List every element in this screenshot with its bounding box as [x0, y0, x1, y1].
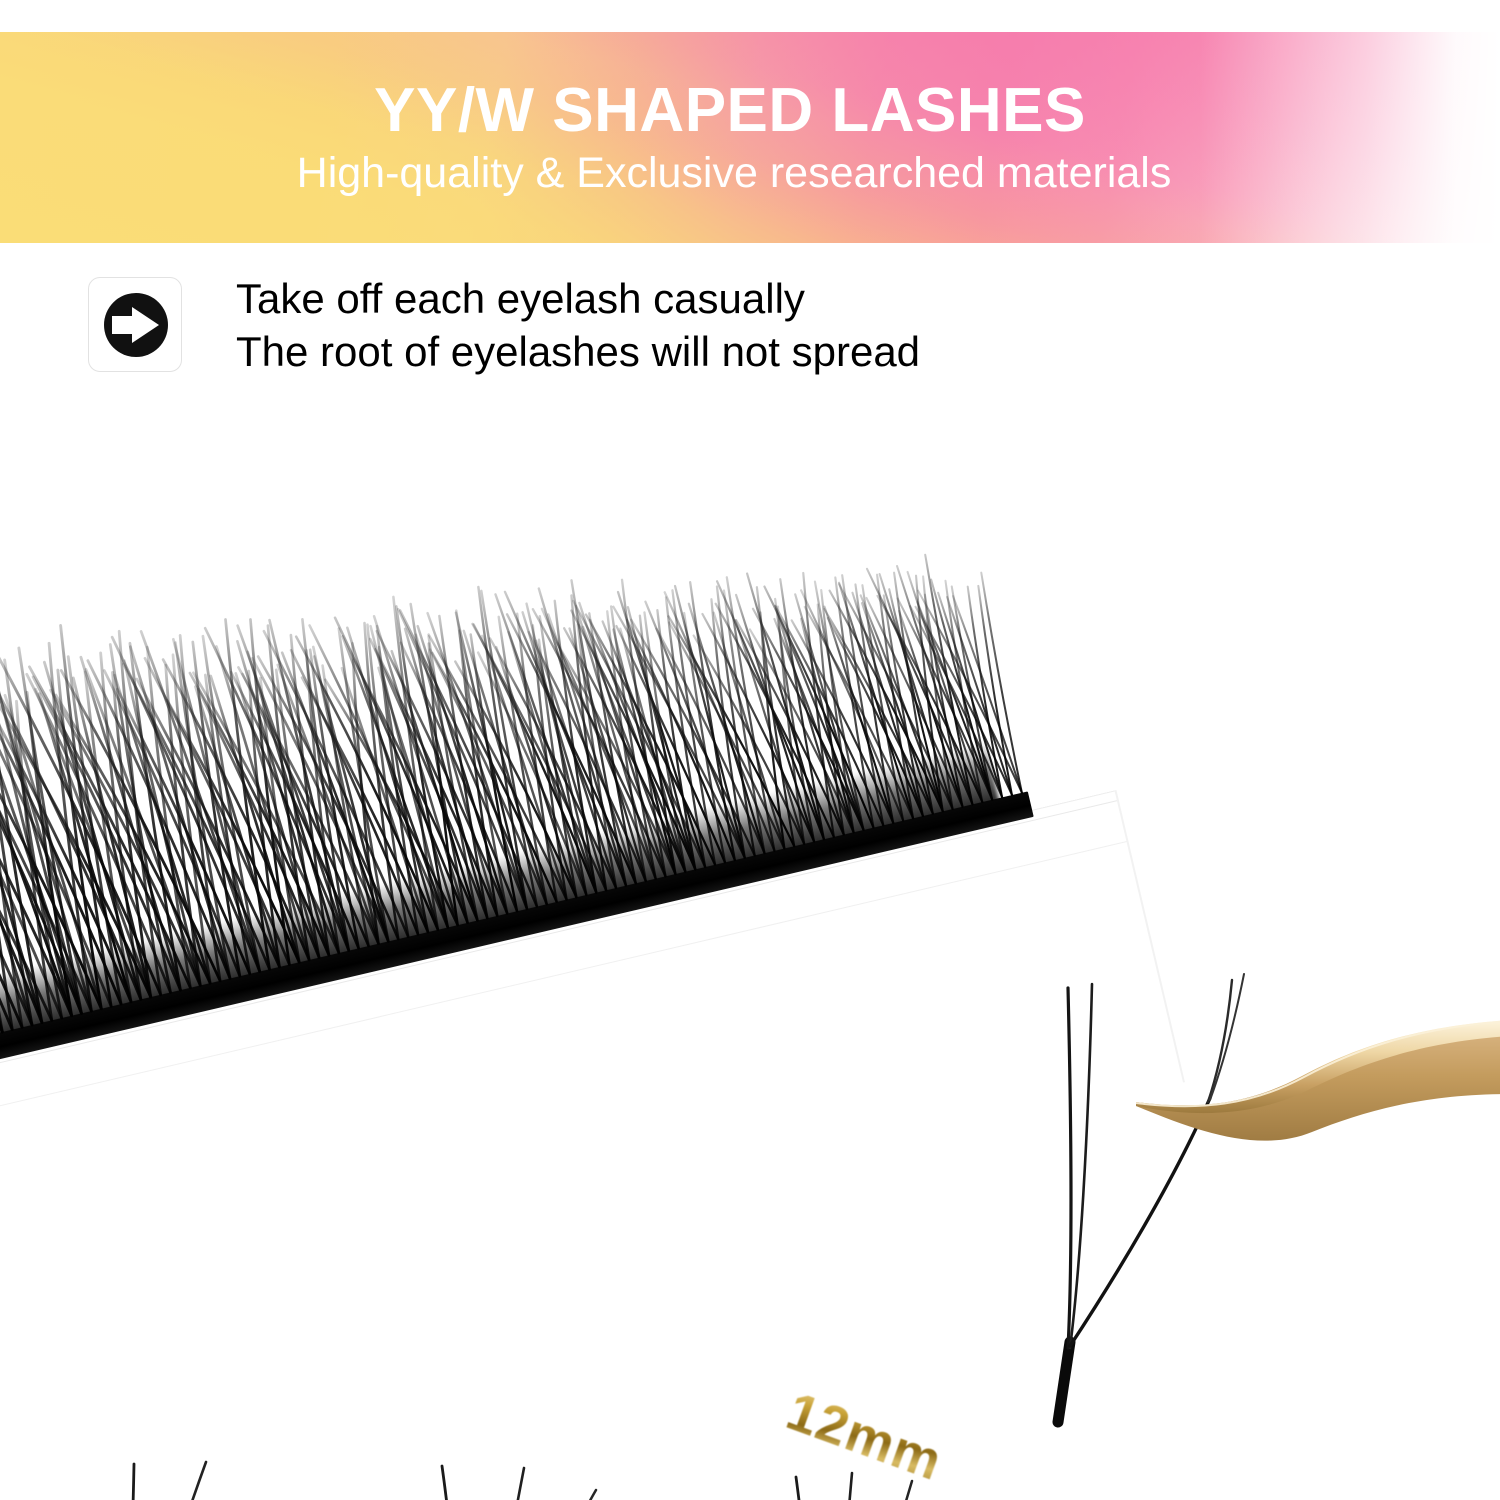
lash-fan-3-fiber — [60, 1460, 390, 1500]
feature-line-1: Take off each eyelash casually — [236, 272, 920, 325]
banner-subtitle: High-quality & Exclusive researched mate… — [297, 152, 1172, 195]
feature-text-group: Take off each eyelash casually The root … — [236, 272, 920, 378]
gold-tweezer-icon — [1130, 1020, 1500, 1240]
promo-banner: YY/W SHAPED LASHES High-quality & Exclus… — [0, 32, 1500, 243]
banner-title: YY/W SHAPED LASHES — [374, 80, 1086, 142]
banner-text-group: YY/W SHAPED LASHES High-quality & Exclus… — [0, 32, 1500, 243]
feature-callout: Take off each eyelash casually The root … — [88, 272, 1188, 382]
lash-fan-5-fiber — [760, 1455, 1130, 1500]
lash-fan-6-fiber — [1120, 1495, 1490, 1500]
feature-icon-box — [88, 277, 182, 372]
lash-fan-4-fiber — [400, 1450, 760, 1500]
product-photo: 12mm — [0, 380, 1500, 1500]
feature-line-2: The root of eyelashes will not spread — [236, 325, 920, 378]
